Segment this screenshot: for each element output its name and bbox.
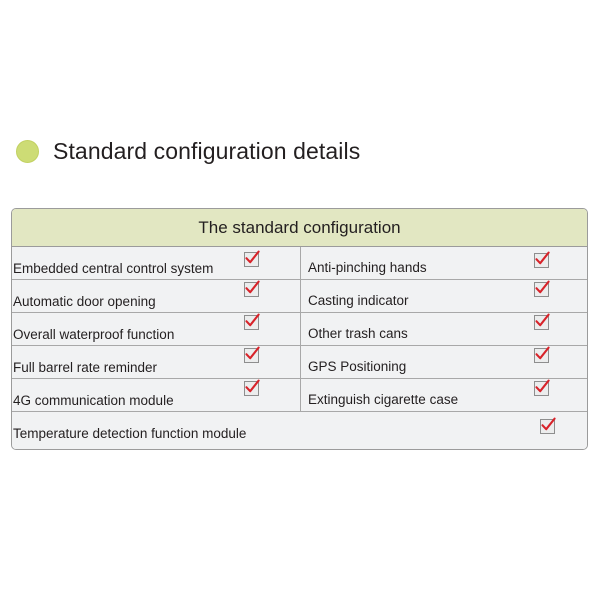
feature-label: 4G communication module xyxy=(13,393,174,408)
feature-cell: GPS Positioning xyxy=(301,346,587,378)
feature-label: Embedded central control system xyxy=(13,261,213,276)
checkbox-checked-icon[interactable] xyxy=(244,348,259,363)
feature-cell: Overall waterproof function xyxy=(12,313,301,345)
feature-cell: Extinguish cigarette case xyxy=(301,379,587,411)
feature-cell: Casting indicator xyxy=(301,280,587,312)
feature-label: Other trash cans xyxy=(308,326,408,341)
checkbox-checked-icon[interactable] xyxy=(244,315,259,330)
feature-cell: Anti-pinching hands xyxy=(301,247,587,279)
feature-label: Full barrel rate reminder xyxy=(13,360,157,375)
feature-label: Overall waterproof function xyxy=(13,327,174,342)
checkbox-checked-icon[interactable] xyxy=(534,381,549,396)
feature-label: Extinguish cigarette case xyxy=(308,392,458,407)
checkbox-checked-icon[interactable] xyxy=(534,253,549,268)
feature-label: GPS Positioning xyxy=(308,359,406,374)
feature-cell: Embedded central control system xyxy=(12,247,301,279)
section-heading: Standard configuration details xyxy=(16,134,360,168)
feature-cell: Full barrel rate reminder xyxy=(12,346,301,378)
feature-label: Anti-pinching hands xyxy=(308,260,427,275)
page-title: Standard configuration details xyxy=(53,138,360,165)
checkbox-checked-icon[interactable] xyxy=(244,381,259,396)
feature-cell: Temperature detection function module xyxy=(12,412,587,449)
table-row: Overall waterproof function Other trash … xyxy=(12,313,587,346)
feature-cell: 4G communication module xyxy=(12,379,301,411)
checkbox-checked-icon[interactable] xyxy=(540,419,555,434)
feature-label: Temperature detection function module xyxy=(13,426,246,441)
table-row: 4G communication module Extinguish cigar… xyxy=(12,379,587,412)
table-row: Full barrel rate reminder GPS Positionin… xyxy=(12,346,587,379)
table-header-title: The standard configuration xyxy=(198,218,400,238)
table-row: Automatic door opening Casting indicator xyxy=(12,280,587,313)
feature-cell: Automatic door opening xyxy=(12,280,301,312)
circle-bullet-icon xyxy=(16,140,39,163)
table-row: Temperature detection function module xyxy=(12,412,587,449)
standard-configuration-table: The standard configuration Embedded cent… xyxy=(11,208,588,450)
table-row: Embedded central control system Anti-pin… xyxy=(12,247,587,280)
table-header-row: The standard configuration xyxy=(12,209,587,247)
checkbox-checked-icon[interactable] xyxy=(244,282,259,297)
checkbox-checked-icon[interactable] xyxy=(534,282,549,297)
feature-label: Casting indicator xyxy=(308,293,409,308)
checkbox-checked-icon[interactable] xyxy=(534,348,549,363)
checkbox-checked-icon[interactable] xyxy=(244,252,259,267)
feature-label: Automatic door opening xyxy=(13,294,156,309)
checkbox-checked-icon[interactable] xyxy=(534,315,549,330)
feature-cell: Other trash cans xyxy=(301,313,587,345)
